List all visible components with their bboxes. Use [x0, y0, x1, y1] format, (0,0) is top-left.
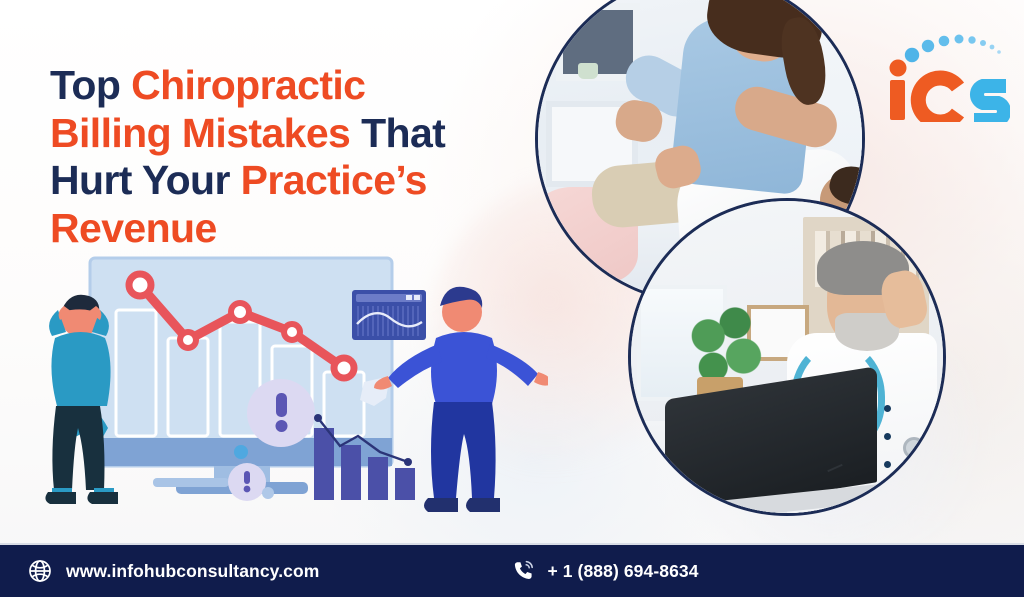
shirt-button — [884, 405, 891, 412]
headline-word-revenue: Revenue — [50, 205, 217, 251]
headline-line-2: Billing Mistakes That — [50, 110, 530, 158]
stethoscope-chestpiece — [903, 437, 925, 459]
marketing-banner: Top Chiropractic Billing Mistakes That H… — [0, 0, 1024, 597]
logo-letter-c — [918, 78, 958, 122]
shirt-button — [884, 461, 891, 468]
dashboard-card — [352, 290, 426, 340]
headline-word-billing-mistakes: Billing Mistakes — [50, 110, 361, 156]
headline-word-practices: Practice’s — [241, 157, 427, 203]
logo-dot-arc — [890, 35, 1001, 77]
revenue-decline-illustration — [28, 250, 548, 545]
footer-website-text: www.infohubconsultancy.com — [66, 561, 319, 582]
headline-word-hurt-your: Hurt Your — [50, 157, 241, 203]
frustrated-person-left — [45, 295, 118, 504]
headline-line-4: Revenue — [50, 205, 530, 253]
footer-contact-bar: www.infohubconsultancy.com + 1 (888) 694… — [0, 543, 1024, 597]
headline-word-top: Top — [50, 62, 131, 108]
headline-line-3: Hurt Your Practice’s — [50, 157, 530, 205]
photo-stressed-doctor — [628, 198, 946, 516]
globe-icon — [28, 559, 52, 583]
page-title: Top Chiropractic Billing Mistakes That H… — [50, 62, 530, 252]
warning-exclamation-large — [247, 379, 315, 447]
logo-letter-s — [974, 86, 1006, 120]
ics-logo[interactable] — [888, 22, 1010, 122]
shelf-plant — [578, 63, 598, 79]
logo-letter-i — [890, 80, 905, 120]
footer-phone-text: + 1 (888) 694-8634 — [547, 561, 698, 582]
footer-phone-block[interactable]: + 1 (888) 694-8634 — [511, 559, 698, 583]
shirt-button — [884, 433, 891, 440]
headline-word-that: That — [361, 110, 445, 156]
headline-word-chiropractic: Chiropractic — [131, 62, 365, 108]
headline-line-1: Top Chiropractic — [50, 62, 530, 110]
footer-website-block[interactable]: www.infohubconsultancy.com — [28, 559, 319, 583]
phone-icon — [511, 559, 535, 583]
